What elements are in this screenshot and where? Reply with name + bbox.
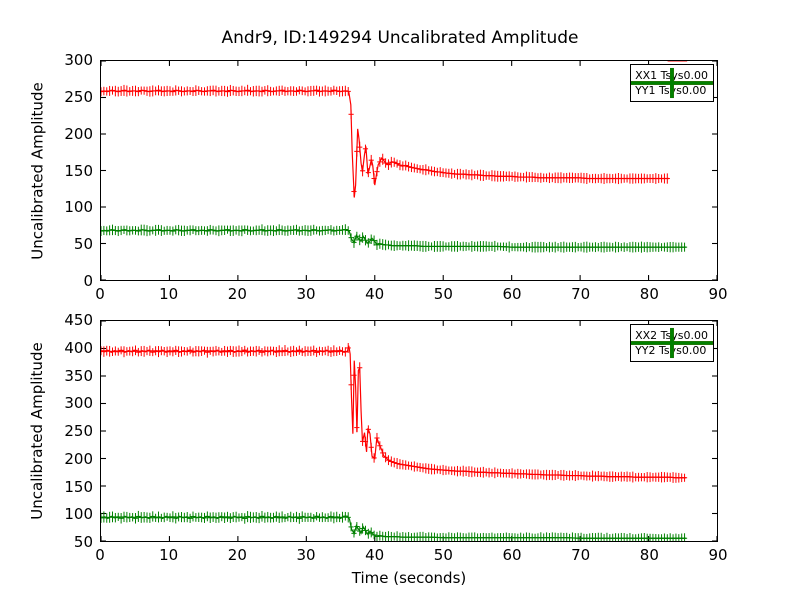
figure-canvas: Andr9, ID:149294 Uncalibrated Amplitude … [0,0,800,600]
y-axis-label-top: Uncalibrated Amplitude [28,60,46,281]
y-tick-label: 200 [38,450,93,468]
plot-area-top [101,61,717,280]
x-tick-label: 20 [228,285,247,303]
page-title: Andr9, ID:149294 Uncalibrated Amplitude [0,28,800,48]
x-tick-label: 80 [640,285,659,303]
y-tick-label: 150 [38,478,93,496]
y-tick-label: 250 [38,422,93,440]
x-tick-label: 0 [95,546,105,564]
legend-entry-yy2: YY2 Tsys0.00 [635,343,708,358]
x-tick-label: 40 [365,285,384,303]
x-tick-label: 90 [708,285,727,303]
x-tick-label: 90 [708,546,727,564]
chart-axes-top: XX1 Tsys0.00 YY1 Tsys0.00 [100,60,718,281]
y-tick-label: 450 [38,311,93,329]
series-xx1 [101,61,687,198]
x-tick-label: 70 [571,285,590,303]
y-tick-label: 300 [38,394,93,412]
series-xx2 [101,343,687,483]
y-tick-label: 100 [38,505,93,523]
x-tick-label: 40 [365,546,384,564]
y-axis-label-bottom: Uncalibrated Amplitude [28,320,46,542]
x-tick-label: 10 [159,546,178,564]
x-tick-label: 20 [228,546,247,564]
x-tick-label: 50 [434,285,453,303]
y-tick-label: 350 [38,367,93,385]
x-tick-label: 50 [434,546,453,564]
legend-swatch-yy2 [631,325,713,361]
chart-axes-bottom: XX2 Tsys0.00 YY2 Tsys0.00 [100,320,718,542]
legend-top: XX1 Tsys0.00 YY1 Tsys0.00 [630,64,714,102]
y-tick-label: 400 [38,339,93,357]
series-yy1 [101,224,687,252]
x-tick-label: 80 [640,546,659,564]
series-yy2 [101,511,687,541]
x-tick-label: 60 [502,285,521,303]
legend-swatch-yy1 [631,65,713,101]
x-tick-label: 0 [95,285,105,303]
x-tick-label: 10 [159,285,178,303]
x-axis-label-bottom: Time (seconds) [100,569,718,587]
legend-entry-yy1: YY1 Tsys0.00 [635,83,708,98]
y-tick-label: 50 [38,533,93,551]
x-tick-label: 60 [502,546,521,564]
x-tick-label: 70 [571,546,590,564]
legend-bottom: XX2 Tsys0.00 YY2 Tsys0.00 [630,324,714,362]
plot-area-bottom [101,321,717,541]
x-tick-label: 30 [296,546,315,564]
x-tick-label: 30 [296,285,315,303]
